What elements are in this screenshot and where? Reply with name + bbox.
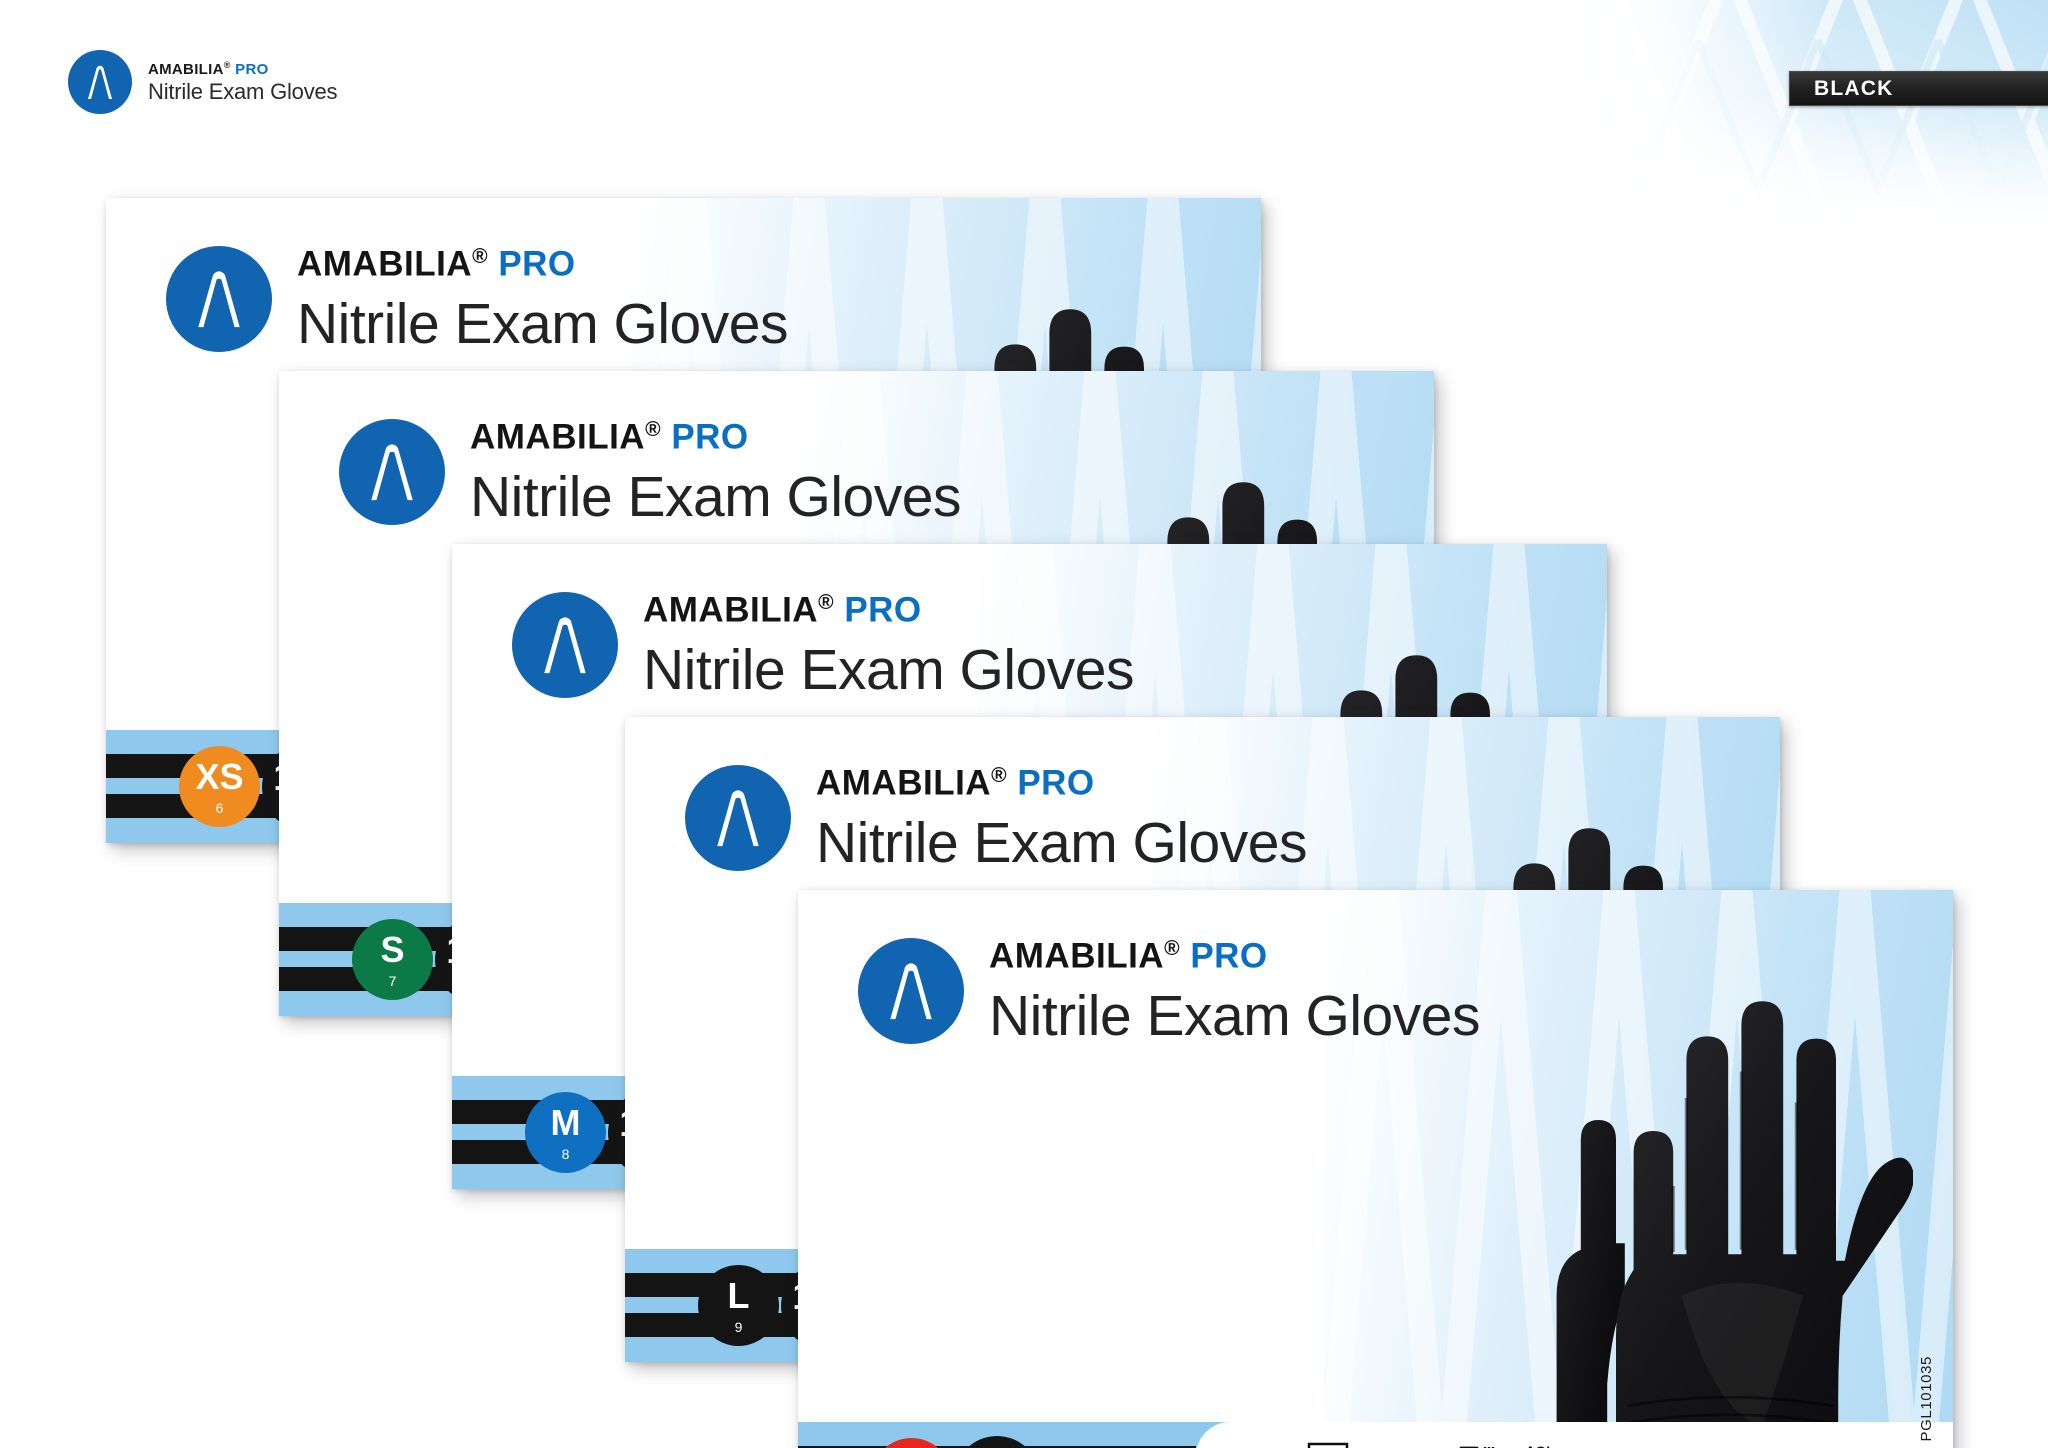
product-box-xl: AMABILIA® PRO Nitrile Exam Gloves XL 10 … [798, 890, 1953, 1448]
box-brand-block: AMABILIA® PRO Nitrile Exam Gloves [339, 419, 961, 526]
size-badge-m: M 8 [525, 1092, 606, 1173]
size-letter: S [380, 932, 404, 968]
header-brand-line1: AMABILIA® PRO [148, 61, 337, 78]
box-brand-pro: PRO [844, 591, 921, 630]
size-letter: L [728, 1278, 750, 1314]
amabilia-m-logo-icon [68, 50, 132, 114]
box-brand-name: AMABILIA [297, 245, 472, 284]
box-brand-pro: PRO [498, 245, 575, 284]
header-brand: AMABILIA® PRO Nitrile Exam Gloves [68, 50, 337, 114]
box-brand-subtitle: Nitrile Exam Gloves [643, 642, 1134, 699]
box-brand-subtitle: Nitrile Exam Gloves [816, 815, 1307, 872]
size-badge-s: S 7 [352, 919, 433, 1000]
box-registered-icon: ® [645, 418, 661, 441]
size-number: 7 [389, 974, 397, 988]
box-brand-line1: AMABILIA® PRO [816, 765, 1307, 801]
box-brand-subtitle: Nitrile Exam Gloves [297, 296, 788, 353]
product-box-stack: AMABILIA® PRO Nitrile Exam Gloves XS 6 1… [0, 0, 2048, 1448]
box-brand-block: AMABILIA® PRO Nitrile Exam Gloves [166, 246, 788, 353]
box-brand-block: AMABILIA® PRO Nitrile Exam Gloves [512, 592, 1134, 699]
box-brand-block: AMABILIA® PRO Nitrile Exam Gloves [685, 765, 1307, 872]
box-brand-name: AMABILIA [643, 591, 818, 630]
box-brand-line1: AMABILIA® PRO [470, 419, 961, 455]
food-safe-glass-fork-icon [1455, 1443, 1499, 1448]
box-brand-pro: PRO [1017, 764, 1094, 803]
box-brand-line1: AMABILIA® PRO [643, 592, 1134, 628]
box-brand-block: AMABILIA® PRO Nitrile Exam Gloves [858, 938, 1480, 1045]
product-code: PGL101035 [1918, 1356, 1935, 1441]
size-letter: M [551, 1105, 581, 1141]
box-brand-subtitle: Nitrile Exam Gloves [989, 988, 1480, 1045]
box-brand-name: AMABILIA [470, 418, 645, 457]
box-brand-name: AMABILIA [989, 937, 1164, 976]
box-brand-subtitle: Nitrile Exam Gloves [470, 469, 961, 526]
header-brand-pro: PRO [235, 61, 268, 78]
color-variant-badge: BLACK [1789, 71, 2048, 106]
size-letter: XS [195, 759, 243, 795]
amabilia-m-logo-icon [858, 938, 964, 1044]
size-number: 9 [735, 1320, 743, 1334]
header-registered-icon: ® [224, 60, 231, 70]
amabilia-m-logo-icon [166, 246, 272, 352]
aql-icon: AQL 1.5 [1517, 1441, 1563, 1448]
box-brand-line1: AMABILIA® PRO [297, 246, 788, 282]
glove-photo [1451, 919, 1913, 1448]
box-registered-icon: ® [1164, 937, 1180, 960]
box-brand-pro: PRO [1190, 937, 1267, 976]
en455-icon: EN 455 [1307, 1442, 1349, 1448]
box-registered-icon: ® [991, 764, 1007, 787]
color-variant-label: BLACK [1790, 77, 1894, 101]
svg-text:AQL: AQL [1525, 1443, 1555, 1448]
size-number: 8 [562, 1147, 570, 1161]
size-badge-xs: XS 6 [179, 746, 260, 827]
box-brand-pro: PRO [671, 418, 748, 457]
box-registered-icon: ® [472, 245, 488, 268]
amabilia-m-logo-icon [685, 765, 791, 871]
amabilia-m-logo-icon [512, 592, 618, 698]
size-number: 6 [216, 801, 224, 815]
box-brand-name: AMABILIA [816, 764, 991, 803]
size-badge-l: L 9 [698, 1265, 779, 1346]
box-registered-icon: ® [818, 591, 834, 614]
box-brand-line1: AMABILIA® PRO [989, 938, 1480, 974]
box-info-strip: XL 10 100 PCS BLACK POWDER FREE 2777 EN … [798, 1422, 1953, 1448]
header-brand-name: AMABILIA [148, 61, 224, 78]
header-brand-subtitle: Nitrile Exam Gloves [148, 80, 337, 104]
amabilia-m-logo-icon [339, 419, 445, 525]
